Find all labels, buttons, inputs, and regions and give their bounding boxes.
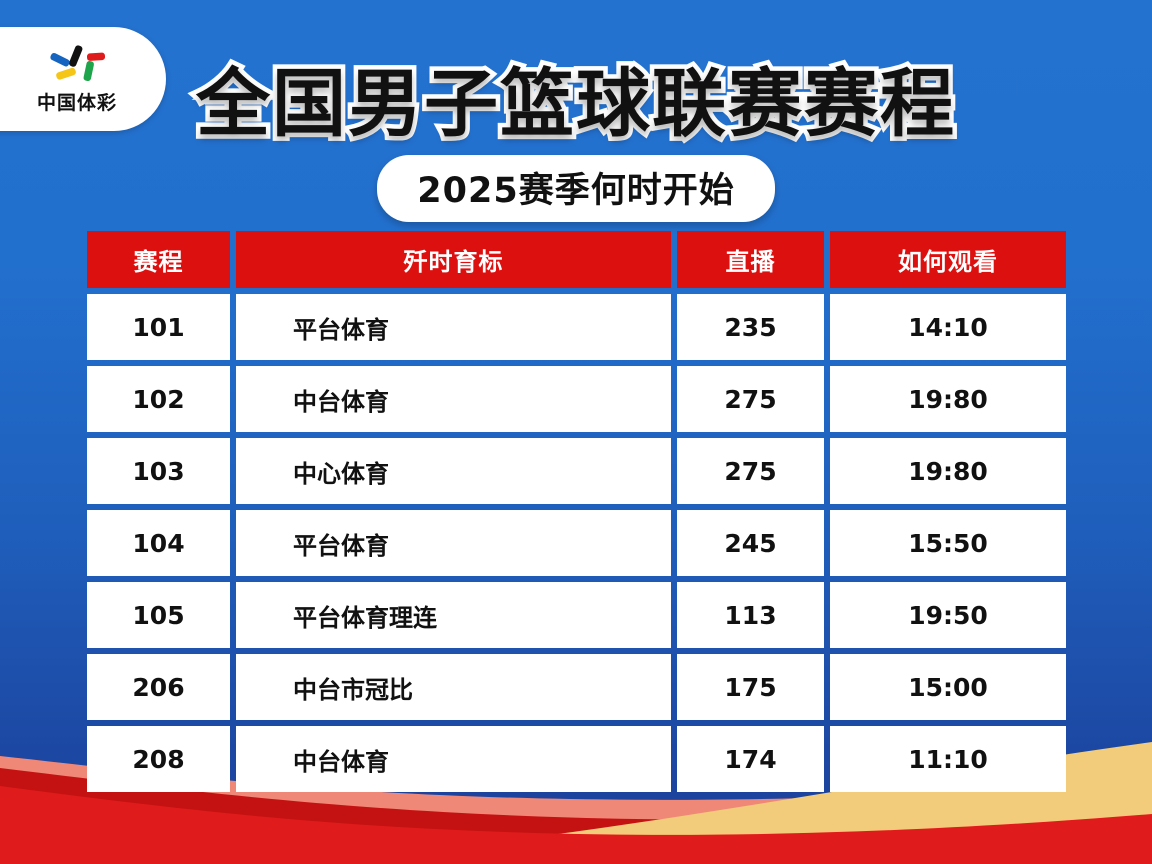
cell-live: 174 [677, 726, 824, 792]
column-header-howto: 如何观看 [830, 231, 1066, 288]
cell-schedule: 105 [87, 582, 230, 648]
table-row: 103中心体育27519:80 [87, 438, 1066, 504]
cell-event: 中心体育 [236, 438, 671, 504]
cell-howto: 14:10 [830, 294, 1066, 360]
table-row: 101平台体育23514:10 [87, 294, 1066, 360]
cell-howto: 19:80 [830, 438, 1066, 504]
table-row: 208中台体育17411:10 [87, 726, 1066, 792]
cell-live: 245 [677, 510, 824, 576]
cell-event: 中台体育 [236, 366, 671, 432]
cell-howto: 19:80 [830, 366, 1066, 432]
table-row: 105平台体育理连11319:50 [87, 582, 1066, 648]
schedule-table: 赛程 歼时育标 直播 如何观看 101平台体育23514:10102中台体育27… [87, 231, 1066, 798]
table-row: 102中台体育27519:80 [87, 366, 1066, 432]
cell-event: 中台体育 [236, 726, 671, 792]
cell-event: 平台体育理连 [236, 582, 671, 648]
table-body: 101平台体育23514:10102中台体育27519:80103中心体育275… [87, 294, 1066, 792]
column-header-live: 直播 [677, 231, 824, 288]
cell-live: 275 [677, 438, 824, 504]
cell-howto: 15:00 [830, 654, 1066, 720]
cell-live: 113 [677, 582, 824, 648]
cell-schedule: 103 [87, 438, 230, 504]
column-header-event: 歼时育标 [236, 231, 671, 288]
cell-live: 235 [677, 294, 824, 360]
cell-event: 平台体育 [236, 510, 671, 576]
page-subtitle: 2025赛季何时开始 [377, 155, 774, 222]
cell-schedule: 208 [87, 726, 230, 792]
cell-schedule: 206 [87, 654, 230, 720]
column-header-schedule: 赛程 [87, 231, 230, 288]
cell-event: 中台市冠比 [236, 654, 671, 720]
cell-howto: 11:10 [830, 726, 1066, 792]
cell-live: 275 [677, 366, 824, 432]
cell-howto: 15:50 [830, 510, 1066, 576]
cell-event: 平台体育 [236, 294, 671, 360]
cell-howto: 19:50 [830, 582, 1066, 648]
table-row: 206中台市冠比17515:00 [87, 654, 1066, 720]
cell-live: 175 [677, 654, 824, 720]
cell-schedule: 104 [87, 510, 230, 576]
cell-schedule: 101 [87, 294, 230, 360]
cell-schedule: 102 [87, 366, 230, 432]
table-header-row: 赛程 歼时育标 直播 如何观看 [87, 231, 1066, 288]
page-title: 全国男子篮球联赛赛程 [0, 44, 1152, 151]
table-row: 104平台体育24515:50 [87, 510, 1066, 576]
